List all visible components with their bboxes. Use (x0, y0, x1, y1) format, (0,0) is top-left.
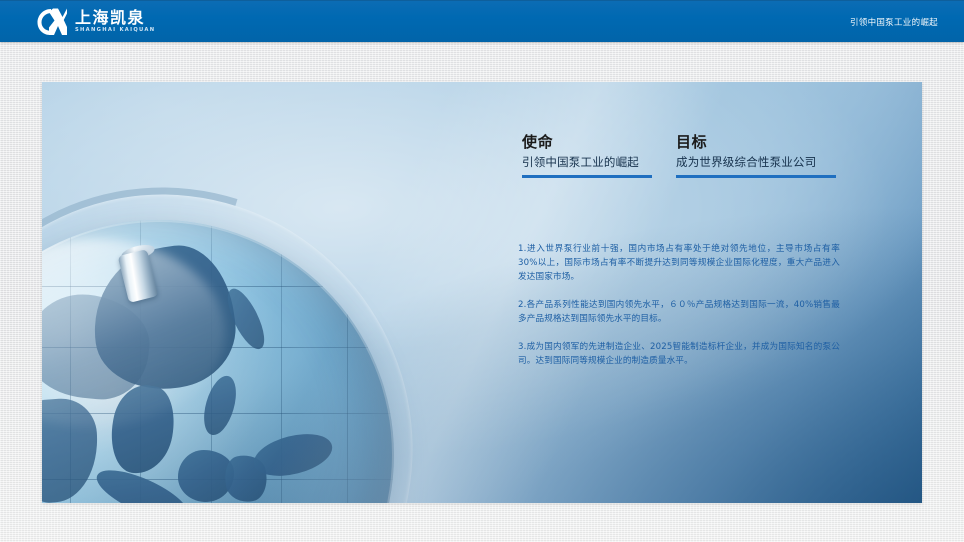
top-brand-bar: 上海凯泉 SHANGHAI KAIQUAN 引领中国泵工业的崛起 (0, 0, 964, 42)
body-paragraph: 3.成为国内领军的先进制造企业、2025智能制造标杆企业，并成为国际知名的泵公司… (518, 341, 840, 369)
goal-subtitle: 成为世界级综合性泵业公司 (676, 156, 836, 169)
heading-row: 使命 引领中国泵工业的崛起 目标 成为世界级综合性泵业公司 (522, 134, 902, 178)
mission-title: 使命 (522, 134, 652, 151)
body-paragraph: 2.各产品系列性能达到国内领先水平，６０％产品规格达到国际一流，40%销售最多产… (518, 299, 840, 327)
mission-underline (522, 175, 652, 178)
brand-name-cn: 上海凯泉 (75, 10, 155, 26)
goal-underline (676, 175, 836, 178)
kaiquan-monogram-icon (36, 7, 68, 37)
globe-meridian-arc (42, 99, 509, 503)
body-paragraph-list: 1.进入世界泵行业前十强，国内市场占有率处于绝对领先地位，主导市场占有率30%以… (518, 243, 840, 368)
header-slogan: 引领中国泵工业的崛起 (850, 1, 938, 42)
crystal-globe-image (42, 160, 444, 503)
brand-name-en: SHANGHAI KAIQUAN (75, 28, 155, 33)
slide-canvas: 使命 引领中国泵工业的崛起 目标 成为世界级综合性泵业公司 1.进入世界泵行业前… (42, 82, 922, 503)
goal-column: 目标 成为世界级综合性泵业公司 (676, 134, 836, 178)
brand-logo[interactable]: 上海凯泉 SHANGHAI KAIQUAN (36, 6, 155, 38)
mission-column: 使命 引领中国泵工业的崛起 (522, 134, 652, 178)
mission-subtitle: 引领中国泵工业的崛起 (522, 156, 652, 169)
goal-title: 目标 (676, 134, 836, 151)
body-paragraph: 1.进入世界泵行业前十强，国内市场占有率处于绝对领先地位，主导市场占有率30%以… (518, 243, 840, 285)
